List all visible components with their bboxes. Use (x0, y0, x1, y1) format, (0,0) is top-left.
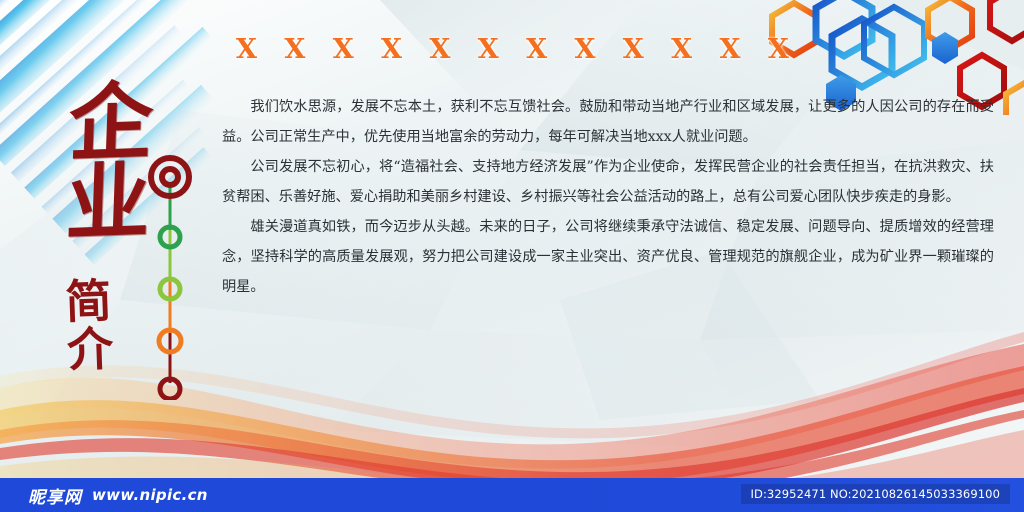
page-title: X X X X X X X X X X X X (236, 34, 798, 65)
paragraph-1: 我们饮水思源，发展不忘本土，获利不忘互馈社会。鼓励和带动当地产行业和区域发展，让… (222, 92, 994, 152)
site-logo: 昵享网 (28, 483, 82, 508)
asset-id-badge: ID:32952471 NO:20210826145033369100 (741, 484, 1010, 504)
calligraphy-main-text: 企业 (61, 77, 146, 285)
paragraph-3: 雄关漫道真如铁，而今迈步从头越。未来的日子，公司将继续秉承守法诚信、稳定发展、问… (222, 212, 994, 302)
calligraphy-sub-text: 简介 (63, 276, 109, 373)
footer-bar: 昵享网 www.nipic.cn ID:32952471 NO:20210826… (0, 478, 1024, 512)
paragraph-2: 公司发展不忘初心，将“造福社会、支持地方经济发展”作为企业使命，发挥民营企业的社… (222, 152, 994, 212)
poster-canvas: 企业 简介 X X X X X X X X X X X X 我们饮水思源，发展不… (0, 0, 1024, 512)
timeline-dots-decoration (148, 155, 192, 400)
site-url[interactable]: www.nipic.cn (92, 486, 208, 504)
body-copy: 我们饮水思源，发展不忘本土，获利不忘互馈社会。鼓励和带动当地产行业和区域发展，让… (222, 92, 994, 302)
